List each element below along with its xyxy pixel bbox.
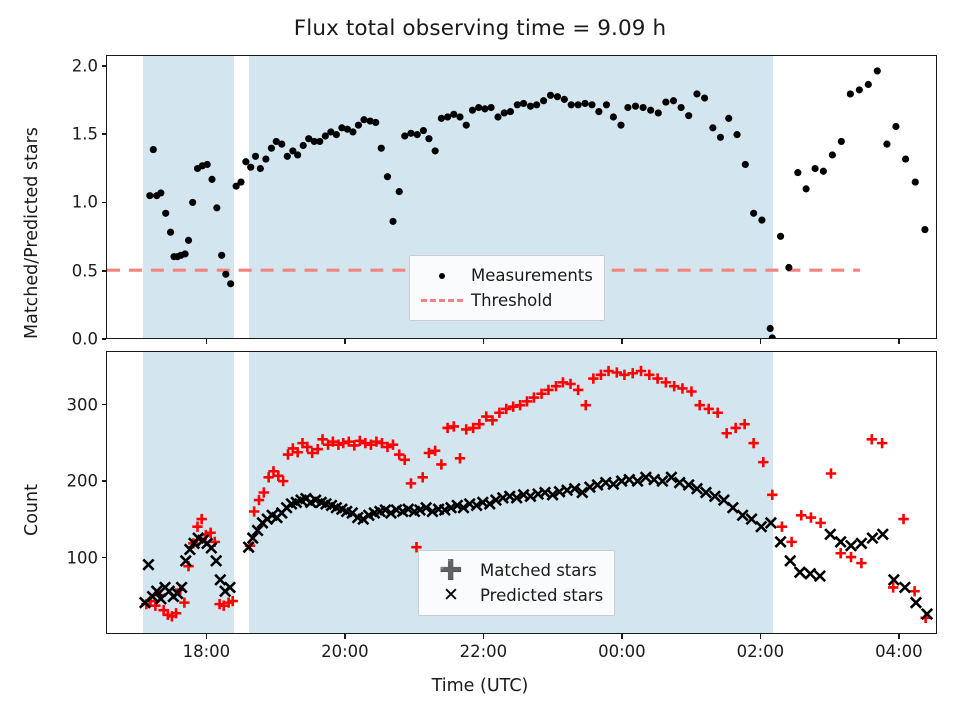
data-point — [442, 423, 452, 433]
data-point — [806, 512, 816, 522]
data-point — [785, 556, 795, 566]
data-point — [758, 457, 768, 467]
legend-entry-predicted-stars[interactable]: ✕ Predicted stars — [428, 583, 603, 608]
data-point — [777, 522, 787, 532]
data-point — [475, 104, 482, 111]
data-point — [717, 134, 724, 141]
xtick-mark — [621, 634, 623, 639]
data-point — [225, 582, 235, 592]
data-point — [677, 383, 687, 393]
data-point — [463, 122, 470, 129]
data-point — [317, 434, 327, 444]
dashed-line-icon — [419, 299, 465, 302]
data-point — [670, 97, 677, 104]
data-point — [360, 438, 370, 448]
data-point — [520, 100, 527, 107]
ytick-label: 0.0 — [46, 330, 98, 349]
data-point — [835, 537, 845, 547]
data-point — [704, 404, 714, 414]
data-point — [430, 446, 440, 456]
data-point — [856, 86, 863, 93]
data-point — [639, 104, 646, 111]
figure-root: Flux total observing time = 9.09 h 0.00.… — [0, 0, 960, 720]
data-point — [733, 131, 740, 138]
data-point — [406, 478, 416, 488]
data-point — [573, 385, 583, 395]
data-point — [252, 153, 259, 160]
yaxis-label-top: Matched/Predicted stars — [22, 127, 42, 339]
data-point — [568, 101, 575, 108]
data-point — [628, 368, 638, 378]
legend-top[interactable]: Measurements Threshold — [409, 255, 605, 321]
data-point — [575, 101, 582, 108]
data-point — [742, 161, 749, 168]
data-point — [685, 112, 692, 119]
data-point — [846, 552, 856, 562]
data-point — [815, 571, 825, 581]
data-point — [900, 582, 910, 592]
data-point — [455, 453, 465, 463]
data-point — [911, 597, 921, 607]
data-point — [750, 210, 757, 217]
data-point — [883, 141, 890, 148]
data-point — [835, 548, 845, 558]
data-point — [867, 434, 877, 444]
data-point — [647, 107, 654, 114]
data-point — [438, 115, 445, 122]
data-point — [494, 113, 501, 120]
ytick-mark — [102, 404, 107, 406]
data-point — [730, 423, 740, 433]
data-point — [829, 151, 836, 158]
ytick-mark — [102, 480, 107, 482]
data-point — [157, 189, 164, 196]
data-point — [213, 204, 220, 211]
data-point — [632, 103, 639, 110]
data-point — [425, 135, 432, 142]
data-point — [725, 115, 732, 122]
data-point — [820, 168, 827, 175]
data-point — [355, 122, 362, 129]
data-point — [227, 280, 234, 287]
data-point — [179, 597, 189, 607]
data-point — [514, 101, 521, 108]
data-point — [204, 161, 211, 168]
data-point — [533, 101, 540, 108]
data-point — [909, 586, 919, 596]
data-point — [815, 518, 825, 528]
data-point — [407, 130, 414, 137]
data-point — [709, 124, 716, 131]
data-point — [481, 105, 488, 112]
data-point — [838, 138, 845, 145]
data-point — [825, 529, 835, 539]
data-point — [189, 199, 196, 206]
data-point — [501, 109, 508, 116]
data-point — [167, 229, 174, 236]
data-point — [262, 155, 269, 162]
data-point — [372, 119, 379, 126]
data-point — [794, 169, 801, 176]
data-point — [867, 533, 877, 543]
data-point — [826, 468, 836, 478]
data-point — [865, 81, 872, 88]
data-point — [420, 127, 427, 134]
data-point — [378, 145, 385, 152]
ytick-mark — [102, 65, 107, 67]
data-point — [432, 147, 439, 154]
data-point — [603, 101, 610, 108]
ytick-label: 0.5 — [46, 261, 98, 280]
data-point — [796, 510, 806, 520]
xaxis-label: Time (UTC) — [0, 676, 960, 696]
ytick-label: 300 — [46, 395, 98, 414]
legend-label-predicted-stars: Predicted stars — [480, 586, 603, 605]
xtick-label: 02:00 — [737, 642, 785, 661]
data-point — [912, 179, 919, 186]
data-point — [469, 107, 476, 114]
xtick-label: 20:00 — [321, 642, 369, 661]
data-point — [268, 145, 275, 152]
data-point — [561, 96, 568, 103]
data-point — [713, 408, 723, 418]
data-point — [856, 538, 866, 548]
data-point — [146, 192, 153, 199]
data-point — [162, 210, 169, 217]
data-point — [278, 141, 285, 148]
data-point — [610, 113, 617, 120]
ytick-label: 1.5 — [46, 125, 98, 144]
legend-bottom[interactable]: ➕ Matched stars ✕ Predicted stars — [418, 550, 615, 616]
data-point — [775, 537, 785, 547]
data-point — [206, 543, 216, 553]
yaxis-label-bottom: Count — [22, 484, 42, 536]
data-point — [507, 108, 514, 115]
legend-entry-matched-stars[interactable]: ➕ Matched stars — [428, 558, 603, 583]
figure-title: Flux total observing time = 9.09 h — [0, 16, 960, 41]
data-point — [612, 367, 622, 377]
data-point — [846, 540, 856, 550]
data-point — [547, 92, 554, 99]
data-point — [777, 233, 784, 240]
legend-entry-measurements[interactable]: Measurements — [419, 263, 593, 288]
data-point — [401, 132, 408, 139]
data-point — [508, 402, 518, 412]
data-point — [677, 104, 684, 111]
data-point — [721, 428, 731, 438]
xtick-label: 22:00 — [460, 642, 508, 661]
data-point — [812, 165, 819, 172]
data-point — [143, 559, 153, 569]
data-point — [444, 113, 451, 120]
data-point — [662, 99, 669, 106]
data-point — [414, 131, 421, 138]
data-point — [874, 67, 881, 74]
data-point — [856, 558, 866, 568]
plus-marker-icon: ➕ — [428, 561, 474, 580]
data-point — [595, 108, 602, 115]
data-point — [418, 472, 428, 482]
xtick-mark-top — [344, 339, 346, 344]
data-point — [902, 155, 909, 162]
ytick-label: 2.0 — [46, 56, 98, 75]
xtick-label: 00:00 — [598, 642, 646, 661]
data-point — [898, 514, 908, 524]
data-point — [686, 386, 696, 396]
data-point — [758, 216, 765, 223]
data-point — [249, 506, 259, 516]
xtick-mark — [898, 634, 900, 639]
ytick-mark — [102, 133, 107, 135]
data-point — [208, 176, 215, 183]
data-point — [316, 138, 323, 145]
data-point — [695, 400, 705, 410]
data-point — [300, 142, 307, 149]
data-point — [619, 370, 629, 380]
data-point — [181, 250, 188, 257]
xtick-mark — [344, 634, 346, 639]
data-point — [847, 90, 854, 97]
data-point — [284, 153, 291, 160]
data-point — [748, 438, 758, 448]
data-point — [181, 556, 191, 566]
data-point — [701, 94, 708, 101]
data-point — [769, 334, 776, 338]
data-point — [456, 113, 463, 120]
xtick-mark — [483, 634, 485, 639]
data-point — [384, 173, 391, 180]
xtick-mark-top — [483, 339, 485, 344]
xtick-mark-top — [206, 339, 208, 344]
xtick-mark — [760, 634, 762, 639]
data-point — [396, 188, 403, 195]
data-point — [222, 271, 229, 278]
data-point — [728, 503, 738, 513]
data-point — [237, 179, 244, 186]
cross-marker-icon: ✕ — [428, 586, 474, 605]
data-point — [185, 237, 192, 244]
data-point — [388, 439, 398, 449]
data-point — [436, 459, 446, 469]
ytick-label: 100 — [46, 548, 98, 567]
xtick-label: 04:00 — [875, 642, 923, 661]
data-point — [554, 93, 561, 100]
xtick-mark-top — [621, 339, 623, 344]
data-point — [257, 165, 264, 172]
data-point — [892, 123, 899, 130]
data-point — [756, 522, 766, 532]
data-point — [242, 158, 249, 165]
data-point — [786, 537, 796, 547]
data-point — [617, 122, 624, 129]
data-point — [424, 448, 434, 458]
data-point — [461, 424, 471, 434]
data-point — [624, 104, 631, 111]
data-point — [400, 455, 410, 465]
data-point — [785, 264, 792, 271]
legend-label-matched-stars: Matched stars — [480, 561, 597, 580]
data-point — [766, 518, 776, 528]
xtick-mark-top — [898, 339, 900, 344]
data-point — [655, 109, 662, 116]
data-point — [450, 111, 457, 118]
ytick-mark — [102, 557, 107, 559]
ytick-mark — [102, 270, 107, 272]
xtick-mark-top — [760, 339, 762, 344]
data-point — [803, 185, 810, 192]
data-point — [767, 325, 774, 332]
data-point — [349, 128, 356, 135]
legend-label-threshold: Threshold — [471, 291, 552, 310]
data-point — [333, 131, 340, 138]
data-point — [739, 419, 749, 429]
ytick-label: 1.0 — [46, 193, 98, 212]
xtick-mark — [206, 634, 208, 639]
ytick-mark — [102, 202, 107, 204]
data-point — [581, 100, 588, 107]
data-point — [488, 104, 495, 111]
data-point — [877, 438, 887, 448]
data-point — [588, 101, 595, 108]
data-point — [211, 556, 221, 566]
data-point — [565, 379, 575, 389]
xtick-label: 18:00 — [183, 642, 231, 661]
data-point — [878, 529, 888, 539]
data-point — [215, 575, 225, 585]
dot-marker-icon — [419, 273, 465, 279]
data-point — [449, 421, 459, 431]
data-point — [805, 569, 815, 579]
data-point — [540, 97, 547, 104]
data-point — [693, 90, 700, 97]
data-point — [389, 218, 396, 225]
data-point — [150, 146, 157, 153]
ytick-mark — [102, 338, 107, 340]
data-point — [795, 567, 805, 577]
ytick-label: 200 — [46, 472, 98, 491]
data-point — [360, 116, 367, 123]
data-point — [247, 164, 254, 171]
data-point — [527, 103, 534, 110]
data-point — [294, 151, 301, 158]
data-point — [921, 226, 928, 233]
data-point — [394, 449, 404, 459]
data-point — [767, 490, 777, 500]
legend-label-measurements: Measurements — [471, 266, 593, 285]
legend-entry-threshold[interactable]: Threshold — [419, 288, 593, 313]
data-point — [581, 400, 591, 410]
data-point — [218, 252, 225, 259]
